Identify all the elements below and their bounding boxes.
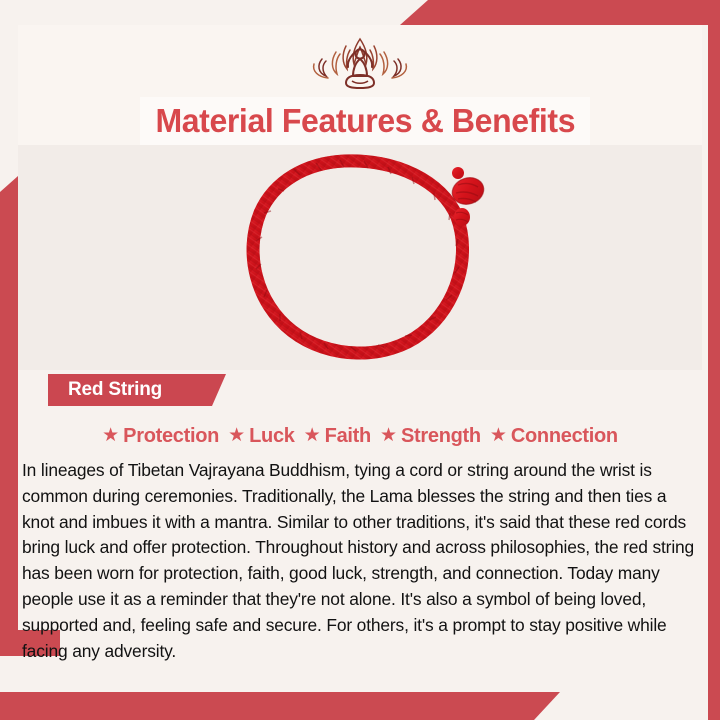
benefit-label: Connection [511,425,618,448]
title-plate: Material Features & Benefits [140,97,590,145]
right-accent-band [708,25,720,720]
benefit-label: Faith [325,425,371,448]
star-icon: ★ [304,426,321,445]
top-accent-band [400,0,720,25]
infographic-page: BUDDHA STONES Material Features & Benefi… [0,0,720,720]
star-icon: ★ [102,426,119,445]
red-string-bracelet-image [236,147,486,369]
description-text: In lineages of Tibetan Vajrayana Buddhis… [22,458,698,664]
benefit-item: ★ Connection [490,425,618,448]
star-icon: ★ [228,426,245,445]
benefit-item: ★ Luck [228,425,295,448]
star-icon: ★ [490,426,507,445]
page-title: Material Features & Benefits [155,102,575,140]
benefit-item: ★ Faith [304,425,371,448]
product-label-banner: Red String [48,374,226,406]
benefit-label: Luck [249,425,294,448]
lotus-meditation-figure-icon [300,33,420,95]
benefits-row: ★ Protection ★ Luck ★ Faith ★ Strength ★… [18,418,702,454]
product-label: Red String [68,379,162,401]
benefit-label: Protection [123,425,219,448]
benefit-item: ★ Protection [102,425,219,448]
star-icon: ★ [380,426,397,445]
hero-image-area [18,145,702,370]
left-accent-band [0,176,18,656]
benefit-label: Strength [401,425,481,448]
benefit-item: ★ Strength [380,425,481,448]
bottom-accent-band [0,692,560,720]
